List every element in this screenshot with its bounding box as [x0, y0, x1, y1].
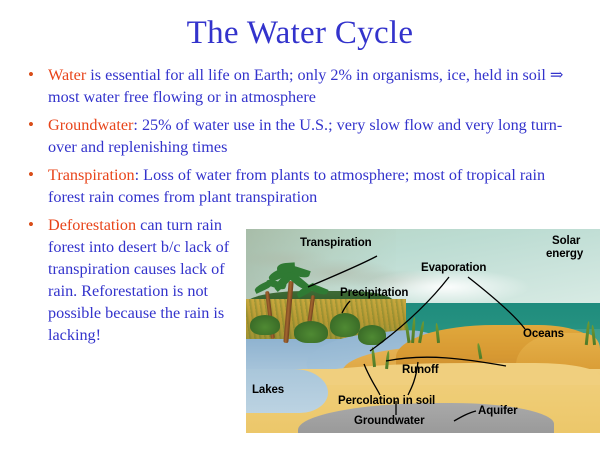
list-item: • Deforestation can turn rain forest int…: [22, 214, 234, 346]
bullet-keyword: Groundwater: [48, 116, 133, 134]
label-solar-energy-line1: Solar: [552, 235, 580, 248]
bullet-text: Transpiration: Loss of water from plants…: [48, 164, 582, 208]
list-item: • Groundwater: 25% of water use in the U…: [22, 114, 582, 158]
percolation-leader-left: [364, 364, 380, 395]
list-item: • Transpiration: Loss of water from plan…: [22, 164, 582, 208]
label-solar-energy-line2: energy: [546, 248, 583, 261]
label-oceans: Oceans: [523, 328, 564, 341]
list-item: • Water is essential for all life on Ear…: [22, 64, 582, 108]
label-precipitation: Precipitation: [340, 287, 408, 300]
bullet-keyword: Transpiration: [48, 166, 135, 184]
bullet-marker-icon: •: [22, 64, 48, 86]
bullet-marker-icon: •: [22, 114, 48, 136]
bullet-text: Water is essential for all life on Earth…: [48, 64, 582, 108]
evaporation-leader-2: [468, 277, 525, 329]
bullet-marker-icon: •: [22, 164, 48, 186]
bullet-marker-icon: •: [22, 214, 48, 236]
label-percolation: Percolation in soil: [338, 395, 435, 408]
bullet-body: can turn rain forest into desert b/c lac…: [48, 216, 229, 344]
label-evaporation: Evaporation: [421, 262, 486, 275]
label-aquifer: Aquifer: [478, 405, 518, 418]
water-cycle-diagram: Transpiration Solar energy Evaporation P…: [246, 229, 600, 433]
bullet-body: is essential for all life on Earth; only…: [48, 66, 563, 106]
label-groundwater: Groundwater: [354, 415, 424, 428]
bullet-text: Deforestation can turn rain forest into …: [48, 214, 234, 346]
bullet-keyword: Water: [48, 66, 86, 84]
precipitation-leader: [342, 301, 350, 313]
bullet-keyword: Deforestation: [48, 216, 136, 234]
label-transpiration: Transpiration: [300, 237, 372, 250]
transpiration-leader: [308, 256, 377, 287]
aquifer-leader: [454, 411, 476, 421]
label-runoff: Runoff: [402, 364, 438, 377]
label-lakes: Lakes: [252, 384, 284, 397]
page-title: The Water Cycle: [0, 14, 600, 52]
bullet-text: Groundwater: 25% of water use in the U.S…: [48, 114, 582, 158]
